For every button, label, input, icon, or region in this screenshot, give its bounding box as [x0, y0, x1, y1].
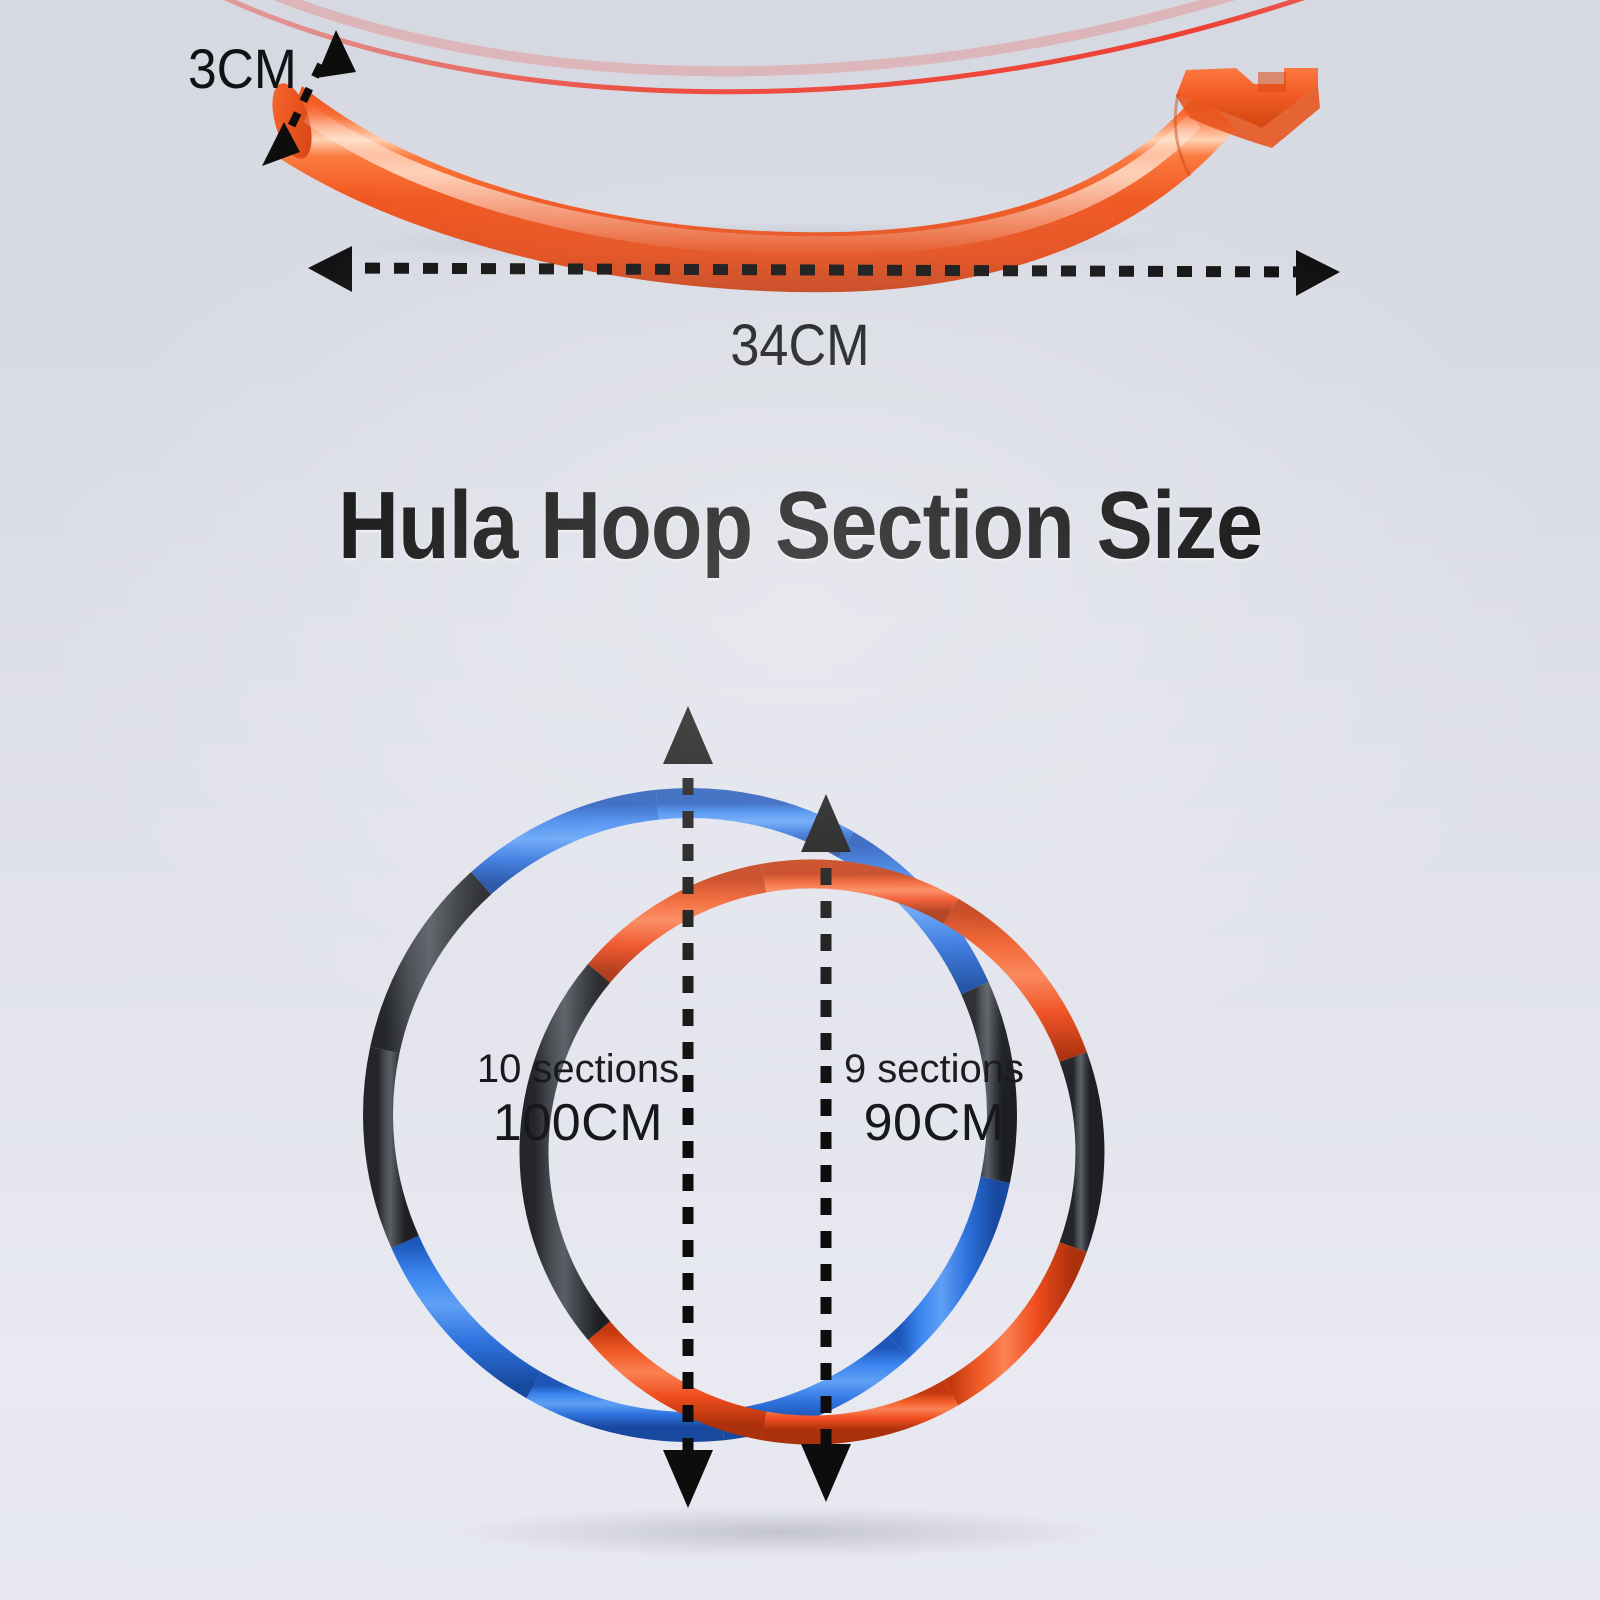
- hoop-100-seg-10: [481, 805, 657, 884]
- hoop-90-seg-3: [1073, 1057, 1090, 1247]
- hoop-100-seg-8: [378, 1050, 405, 1242]
- hoop-90cm-sections: 9 sections: [838, 1046, 1030, 1093]
- hoop-90-seg-9: [599, 878, 764, 973]
- hoop-100cm-label: 10 sections 100CM: [470, 1046, 686, 1155]
- length-label: 34CM: [80, 312, 1520, 379]
- page-title: Hula Hoop Section Size: [96, 478, 1504, 574]
- thickness-label: 3CM: [188, 36, 297, 101]
- hoop-100cm-sections: 10 sections: [470, 1046, 686, 1093]
- hoop-100cm-size: 100CM: [470, 1093, 686, 1154]
- hoop-shadow: [450, 1506, 1110, 1558]
- hoop-100-seg-4: [899, 1180, 995, 1347]
- hoop-100-seg-7: [405, 1242, 534, 1385]
- hoop-100-seg-9: [385, 883, 481, 1050]
- hoop-90-seg-1: [764, 874, 951, 911]
- tube-segment: [265, 68, 1320, 292]
- hoop-90-seg-7: [534, 1152, 599, 1331]
- tube-connector-notch: [1258, 72, 1286, 92]
- artwork-svg: [0, 0, 1600, 1600]
- infographic-page: 3CM 34CM Hula Hoop Section Size 10 secti…: [0, 0, 1600, 1600]
- hoop-90cm-label: 9 sections 90CM: [838, 1046, 1030, 1155]
- hoop-90cm-size: 90CM: [838, 1093, 1030, 1154]
